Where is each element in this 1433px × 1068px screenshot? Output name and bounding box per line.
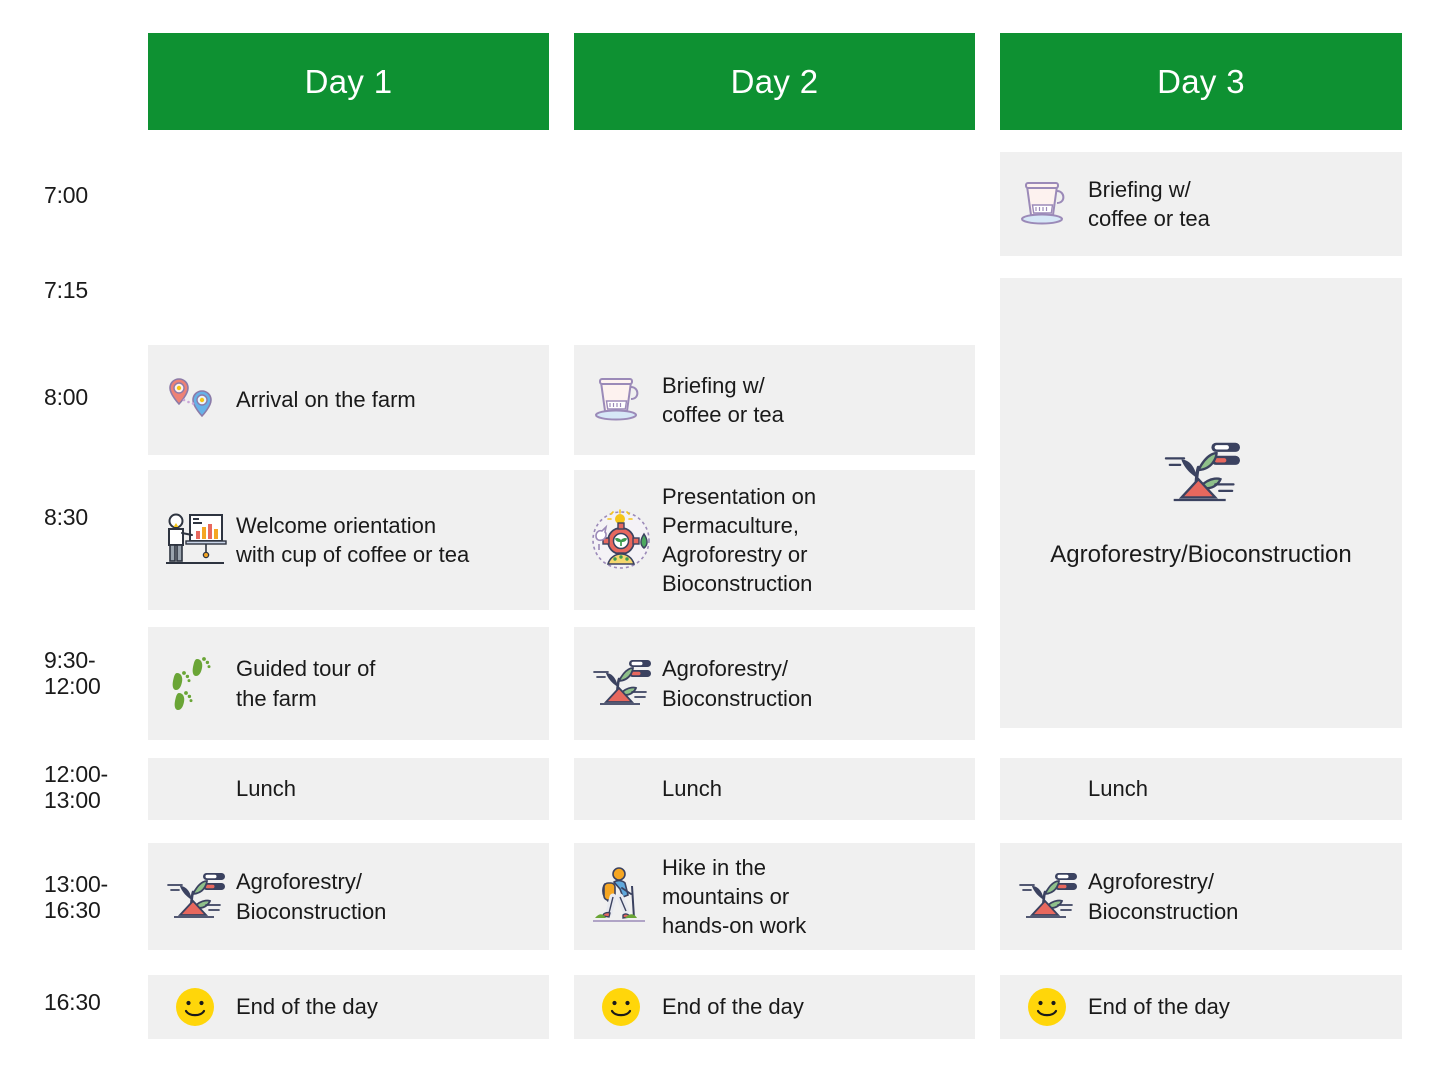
smiley-icon	[158, 985, 232, 1029]
day-header-2: Day 2	[574, 33, 975, 130]
cell-day1-tour-text: Guided tour of the farm	[232, 654, 375, 712]
cell-day3-lunch-text: Lunch	[1084, 774, 1148, 803]
plant-sprout-icon	[1158, 435, 1244, 513]
day-header-label-2: Day 2	[731, 63, 819, 101]
time-label-1200-1300: 12:00- 13:00	[44, 762, 144, 814]
cell-day1-end-text: End of the day	[232, 992, 378, 1021]
time-label-1300-1630: 13:00- 16:30	[44, 872, 144, 924]
time-label-0800: 8:00	[44, 385, 144, 411]
cell-day3-agroforestry-text: Agroforestry/ Bioconstruction	[1084, 867, 1238, 925]
cell-day1-arrival-text: Arrival on the farm	[232, 385, 416, 414]
cell-day2-briefing-text: Briefing w/ coffee or tea	[658, 371, 784, 429]
cell-day3-agroforestry-block-text: Agroforestry/Bioconstruction	[1050, 539, 1351, 571]
cell-day1-orientation-text: Welcome orientation with cup of coffee o…	[232, 511, 469, 569]
cell-day2-briefing[interactable]: Briefing w/ coffee or tea	[574, 345, 975, 455]
cell-day3-briefing[interactable]: Briefing w/ coffee or tea	[1000, 152, 1402, 256]
time-label-0830: 8:30	[44, 505, 144, 531]
map-pins-icon	[158, 369, 232, 431]
time-axis-column: 7:00 7:15 8:00 8:30 9:30- 12:00 12:00- 1…	[0, 0, 148, 1068]
time-label-1630: 16:30	[44, 990, 144, 1016]
day-column-1: Day 1 Arrival on the farm	[148, 0, 549, 1068]
smiley-icon	[584, 985, 658, 1029]
cell-day1-agroforestry[interactable]: Agroforestry/ Bioconstruction	[148, 843, 549, 950]
cell-day2-presentation[interactable]: Presentation on Permaculture, Agroforest…	[574, 470, 975, 610]
day-header-label-1: Day 1	[305, 63, 393, 101]
footprints-icon	[158, 651, 232, 717]
smiley-icon	[1010, 985, 1084, 1029]
day-column-2: Day 2 Briefing w/ coffee or tea	[574, 0, 975, 1068]
permaculture-icon	[584, 506, 658, 574]
time-label-0700: 7:00	[44, 183, 144, 209]
cell-day1-agroforestry-text: Agroforestry/ Bioconstruction	[232, 867, 386, 925]
cell-day1-orientation[interactable]: Welcome orientation with cup of coffee o…	[148, 470, 549, 610]
cell-day3-agroforestry-block[interactable]: Agroforestry/Bioconstruction	[1000, 278, 1402, 728]
presenter-icon	[158, 507, 232, 573]
day-header-1: Day 1	[148, 33, 549, 130]
time-label-0715: 7:15	[44, 278, 144, 304]
day-header-label-3: Day 3	[1157, 63, 1245, 101]
cell-day2-end-text: End of the day	[658, 992, 804, 1021]
cell-day2-lunch[interactable]: Lunch	[574, 758, 975, 820]
cell-day1-lunch-text: Lunch	[232, 774, 296, 803]
cell-day1-end[interactable]: End of the day	[148, 975, 549, 1039]
cell-day1-lunch[interactable]: Lunch	[148, 758, 549, 820]
cell-day3-briefing-text: Briefing w/ coffee or tea	[1084, 175, 1210, 233]
cell-day3-agroforestry[interactable]: Agroforestry/ Bioconstruction	[1000, 843, 1402, 950]
plant-sprout-icon	[158, 867, 232, 927]
cell-day1-arrival[interactable]: Arrival on the farm	[148, 345, 549, 455]
cell-day3-lunch[interactable]: Lunch	[1000, 758, 1402, 820]
cell-day3-end-text: End of the day	[1084, 992, 1230, 1021]
cell-day2-presentation-text: Presentation on Permaculture, Agroforest…	[658, 482, 816, 598]
coffee-cup-icon	[584, 370, 658, 430]
cell-day2-end[interactable]: End of the day	[574, 975, 975, 1039]
cell-day2-agroforestry-text: Agroforestry/ Bioconstruction	[658, 654, 812, 712]
day-header-3: Day 3	[1000, 33, 1402, 130]
day-column-3: Day 3 Briefing w/ coffee or tea	[1000, 0, 1402, 1068]
coffee-cup-icon	[1010, 174, 1084, 234]
plant-sprout-icon	[1010, 867, 1084, 927]
cell-day2-hike[interactable]: Hike in the mountains or hands-on work	[574, 843, 975, 950]
schedule-table: 7:00 7:15 8:00 8:30 9:30- 12:00 12:00- 1…	[0, 0, 1433, 1068]
cell-day2-hike-text: Hike in the mountains or hands-on work	[658, 853, 806, 940]
hiker-icon	[584, 864, 658, 930]
time-label-0930-1200: 9:30- 12:00	[44, 648, 144, 700]
cell-day1-tour[interactable]: Guided tour of the farm	[148, 627, 549, 740]
cell-day2-agroforestry[interactable]: Agroforestry/ Bioconstruction	[574, 627, 975, 740]
plant-sprout-icon	[584, 654, 658, 714]
cell-day2-lunch-text: Lunch	[658, 774, 722, 803]
cell-day3-end[interactable]: End of the day	[1000, 975, 1402, 1039]
